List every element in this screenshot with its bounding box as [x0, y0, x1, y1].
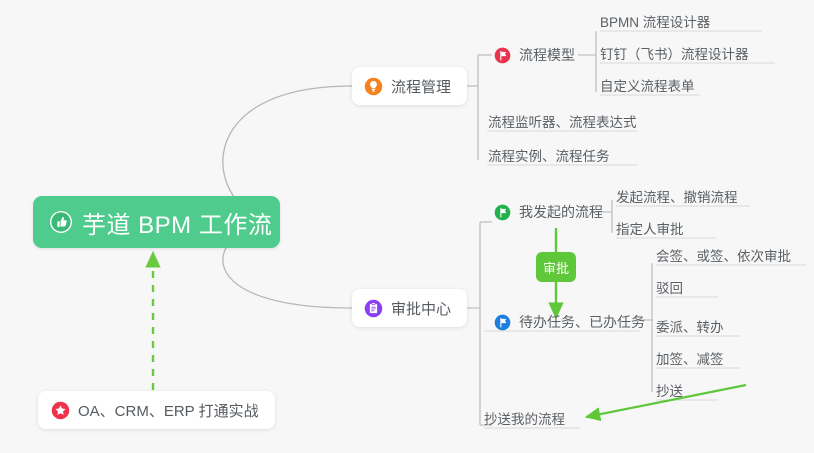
leaf-node-delegate-transfer[interactable]: 委派、转办 [656, 310, 724, 338]
clipboard-icon [364, 299, 383, 318]
branch-node-approval-center[interactable]: 审批中心 [352, 289, 467, 327]
leaf-node-bpmn-designer[interactable]: BPMN 流程设计器 [600, 5, 710, 33]
flag-icon [494, 47, 511, 64]
mindmap-canvas: 芋道 BPM 工作流 流程管理 流程模型 BPMN 流程设计器 钉钉（飞书 [0, 0, 814, 453]
leaf-node-start-cancel-process[interactable]: 发起流程、撤销流程 [616, 180, 738, 208]
callout-label-integration: OA、CRM、ERP 打通实战 [78, 400, 259, 421]
branch-node-process-management[interactable]: 流程管理 [352, 67, 467, 105]
leaf-label-custom-form: 自定义流程表单 [600, 79, 695, 95]
leaf-label-bpmn-designer: BPMN 流程设计器 [600, 15, 710, 31]
leaf-node-cc-to-me[interactable]: 抄送我的流程 [484, 402, 565, 430]
leaf-label-process-instance: 流程实例、流程任务 [488, 149, 610, 165]
leaf-node-cc[interactable]: 抄送 [656, 374, 683, 402]
branch-label-process-management: 流程管理 [391, 76, 451, 97]
leaf-node-custom-form[interactable]: 自定义流程表单 [600, 69, 695, 97]
thumbs-up-icon [49, 210, 73, 234]
lightbulb-icon [364, 77, 383, 96]
leaf-node-process-listener[interactable]: 流程监听器、流程表达式 [488, 105, 637, 133]
callout-node-integration[interactable]: OA、CRM、ERP 打通实战 [38, 391, 275, 429]
leaf-label-start-cancel-process: 发起流程、撤销流程 [616, 190, 738, 206]
sub-label-process-model: 流程模型 [519, 45, 575, 65]
sub-node-todo-done-tasks[interactable]: 待办任务、已办任务 [492, 309, 645, 335]
branch-label-approval-center: 审批中心 [391, 298, 451, 319]
leaf-label-assignee-approve: 指定人审批 [616, 222, 684, 238]
leaf-node-process-instance[interactable]: 流程实例、流程任务 [488, 139, 610, 167]
leaf-label-delegate-transfer: 委派、转办 [656, 320, 724, 336]
leaf-label-countersign: 会签、或签、依次审批 [656, 249, 791, 265]
leaf-label-cc: 抄送 [656, 384, 683, 400]
leaf-label-process-listener: 流程监听器、流程表达式 [488, 115, 637, 131]
leaf-node-countersign[interactable]: 会签、或签、依次审批 [656, 239, 791, 267]
leaf-node-add-remove-sign[interactable]: 加签、减签 [656, 342, 724, 370]
edge-label-approve: 审批 [536, 252, 576, 282]
flag-icon [494, 204, 511, 221]
leaf-label-dingtalk-designer: 钉钉（飞书）流程设计器 [600, 47, 749, 63]
sub-node-process-model[interactable]: 流程模型 [492, 42, 575, 68]
leaf-label-add-remove-sign: 加签、减签 [656, 352, 724, 368]
star-icon [51, 401, 70, 420]
flag-icon [494, 314, 511, 331]
sub-label-todo-done-tasks: 待办任务、已办任务 [519, 312, 645, 332]
sub-node-my-processes[interactable]: 我发起的流程 [492, 199, 603, 225]
leaf-label-reject: 驳回 [656, 281, 683, 297]
sub-label-my-processes: 我发起的流程 [519, 202, 603, 222]
leaf-node-assignee-approve[interactable]: 指定人审批 [616, 212, 684, 240]
leaf-node-reject[interactable]: 驳回 [656, 271, 683, 299]
leaf-node-dingtalk-designer[interactable]: 钉钉（飞书）流程设计器 [600, 37, 749, 65]
root-node[interactable]: 芋道 BPM 工作流 [33, 196, 280, 248]
root-label: 芋道 BPM 工作流 [82, 205, 272, 240]
leaf-label-cc-to-me: 抄送我的流程 [484, 412, 565, 428]
